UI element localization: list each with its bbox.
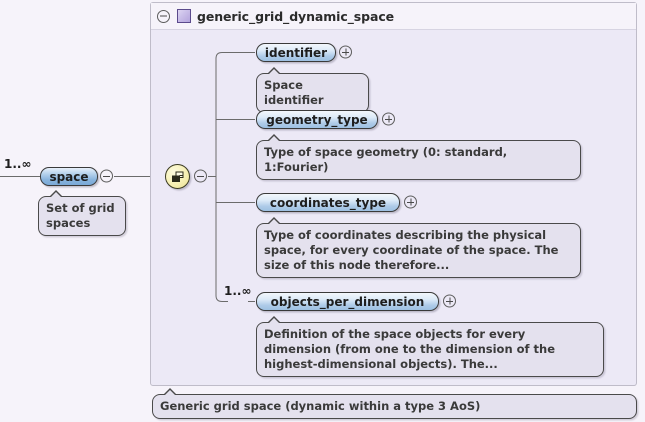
- node-geometry-type[interactable]: geometry_type: [256, 110, 378, 129]
- annotation-identifier: Space identifier: [256, 73, 369, 113]
- annotation-coordinates-type: Type of coordinates describing the physi…: [256, 223, 581, 278]
- node-coordinates-type-label: coordinates_type: [270, 196, 386, 210]
- objects-per-dimension-expand-toggle[interactable]: [443, 295, 456, 308]
- annotation-geometry-type-text: Type of space geometry (0: standard, 1:F…: [264, 145, 507, 174]
- annotation-objects-per-dimension-text: Definition of the space objects for ever…: [264, 327, 555, 371]
- annotation-geometry-type: Type of space geometry (0: standard, 1:F…: [256, 140, 581, 180]
- coordinates-type-expand-toggle[interactable]: [404, 196, 417, 209]
- annotation-footer-text: Generic grid space (dynamic within a typ…: [160, 399, 480, 413]
- objects-per-dimension-occurrence-label: 1..∞: [224, 284, 251, 298]
- annotation-pointer-fill-icon: [268, 318, 280, 324]
- annotation-pointer-fill-icon: [268, 219, 280, 225]
- node-geometry-type-label: geometry_type: [266, 113, 367, 127]
- geometry-type-expand-toggle[interactable]: [382, 113, 395, 126]
- annotation-footer: Generic grid space (dynamic within a typ…: [152, 394, 637, 419]
- annotation-pointer-fill-icon: [164, 390, 176, 396]
- node-identifier-label: identifier: [265, 46, 327, 60]
- annotation-identifier-text: Space identifier: [264, 78, 324, 107]
- annotation-pointer-fill-icon: [268, 69, 280, 75]
- annotation-pointer-fill-icon: [268, 136, 280, 142]
- diagram-canvas: 1..∞ space Set of grid spaces generic_gr…: [0, 0, 645, 422]
- node-identifier[interactable]: identifier: [256, 43, 336, 62]
- node-objects-per-dimension[interactable]: objects_per_dimension: [256, 292, 439, 311]
- identifier-expand-toggle[interactable]: [339, 46, 352, 59]
- annotation-coordinates-type-text: Type of coordinates describing the physi…: [264, 228, 558, 272]
- node-coordinates-type[interactable]: coordinates_type: [256, 193, 400, 212]
- node-objects-per-dimension-label: objects_per_dimension: [271, 295, 425, 309]
- annotation-objects-per-dimension: Definition of the space objects for ever…: [256, 322, 604, 377]
